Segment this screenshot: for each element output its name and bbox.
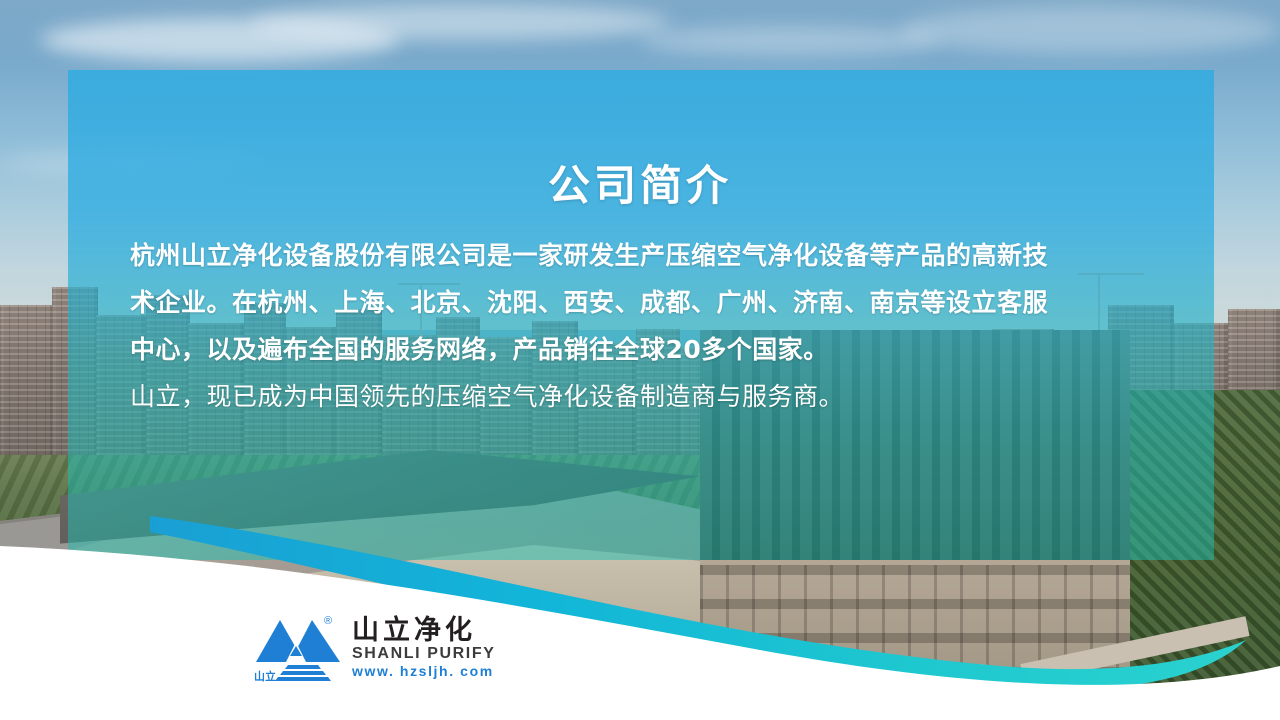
company-description: 杭州山立净化设备股份有限公司是一家研发生产压缩空气净化设备等产品的高新技 术企业… xyxy=(130,232,1120,420)
page-title: 公司简介 xyxy=(0,152,1280,213)
cloud-shape xyxy=(640,26,940,56)
description-line: 杭州山立净化设备股份有限公司是一家研发生产压缩空气净化设备等产品的高新技 xyxy=(130,232,1120,279)
logo-wordmark: 山立净化 SHANLI PURIFY www. hzsljh. com xyxy=(352,617,495,678)
logo-mark-caption: 山立 xyxy=(254,669,276,682)
shanli-mountain-mark-icon: 山立 ® xyxy=(252,612,344,682)
registered-trademark-icon: ® xyxy=(324,615,332,627)
cloud-shape xyxy=(250,4,670,40)
description-line: 中心，以及遍布全国的服务网络，产品销往全球20多个国家。 xyxy=(130,326,1120,373)
logo-website-label[interactable]: www. hzsljh. com xyxy=(352,664,495,678)
description-line: 术企业。在杭州、上海、北京、沈阳、西安、成都、广州、济南、南京等设立客服 xyxy=(130,279,1120,326)
logo-stripe xyxy=(275,677,331,681)
description-line: 山立，现已成为中国领先的压缩空气净化设备制造商与服务商。 xyxy=(130,373,1120,420)
bottom-curve-decoration xyxy=(0,490,1280,720)
company-logo[interactable]: 山立 ® 山立净化 SHANLI PURIFY www. hzsljh. com xyxy=(252,608,495,686)
logo-brand-cn: 山立净化 xyxy=(352,617,495,644)
logo-stripe xyxy=(280,671,326,675)
white-curve-shape xyxy=(0,546,1280,720)
cloud-shape xyxy=(900,6,1280,54)
logo-stripe xyxy=(285,665,321,669)
logo-brand-en: SHANLI PURIFY xyxy=(352,646,495,662)
slide-root: 公司简介 杭州山立净化设备股份有限公司是一家研发生产压缩空气净化设备等产品的高新… xyxy=(0,0,1280,720)
